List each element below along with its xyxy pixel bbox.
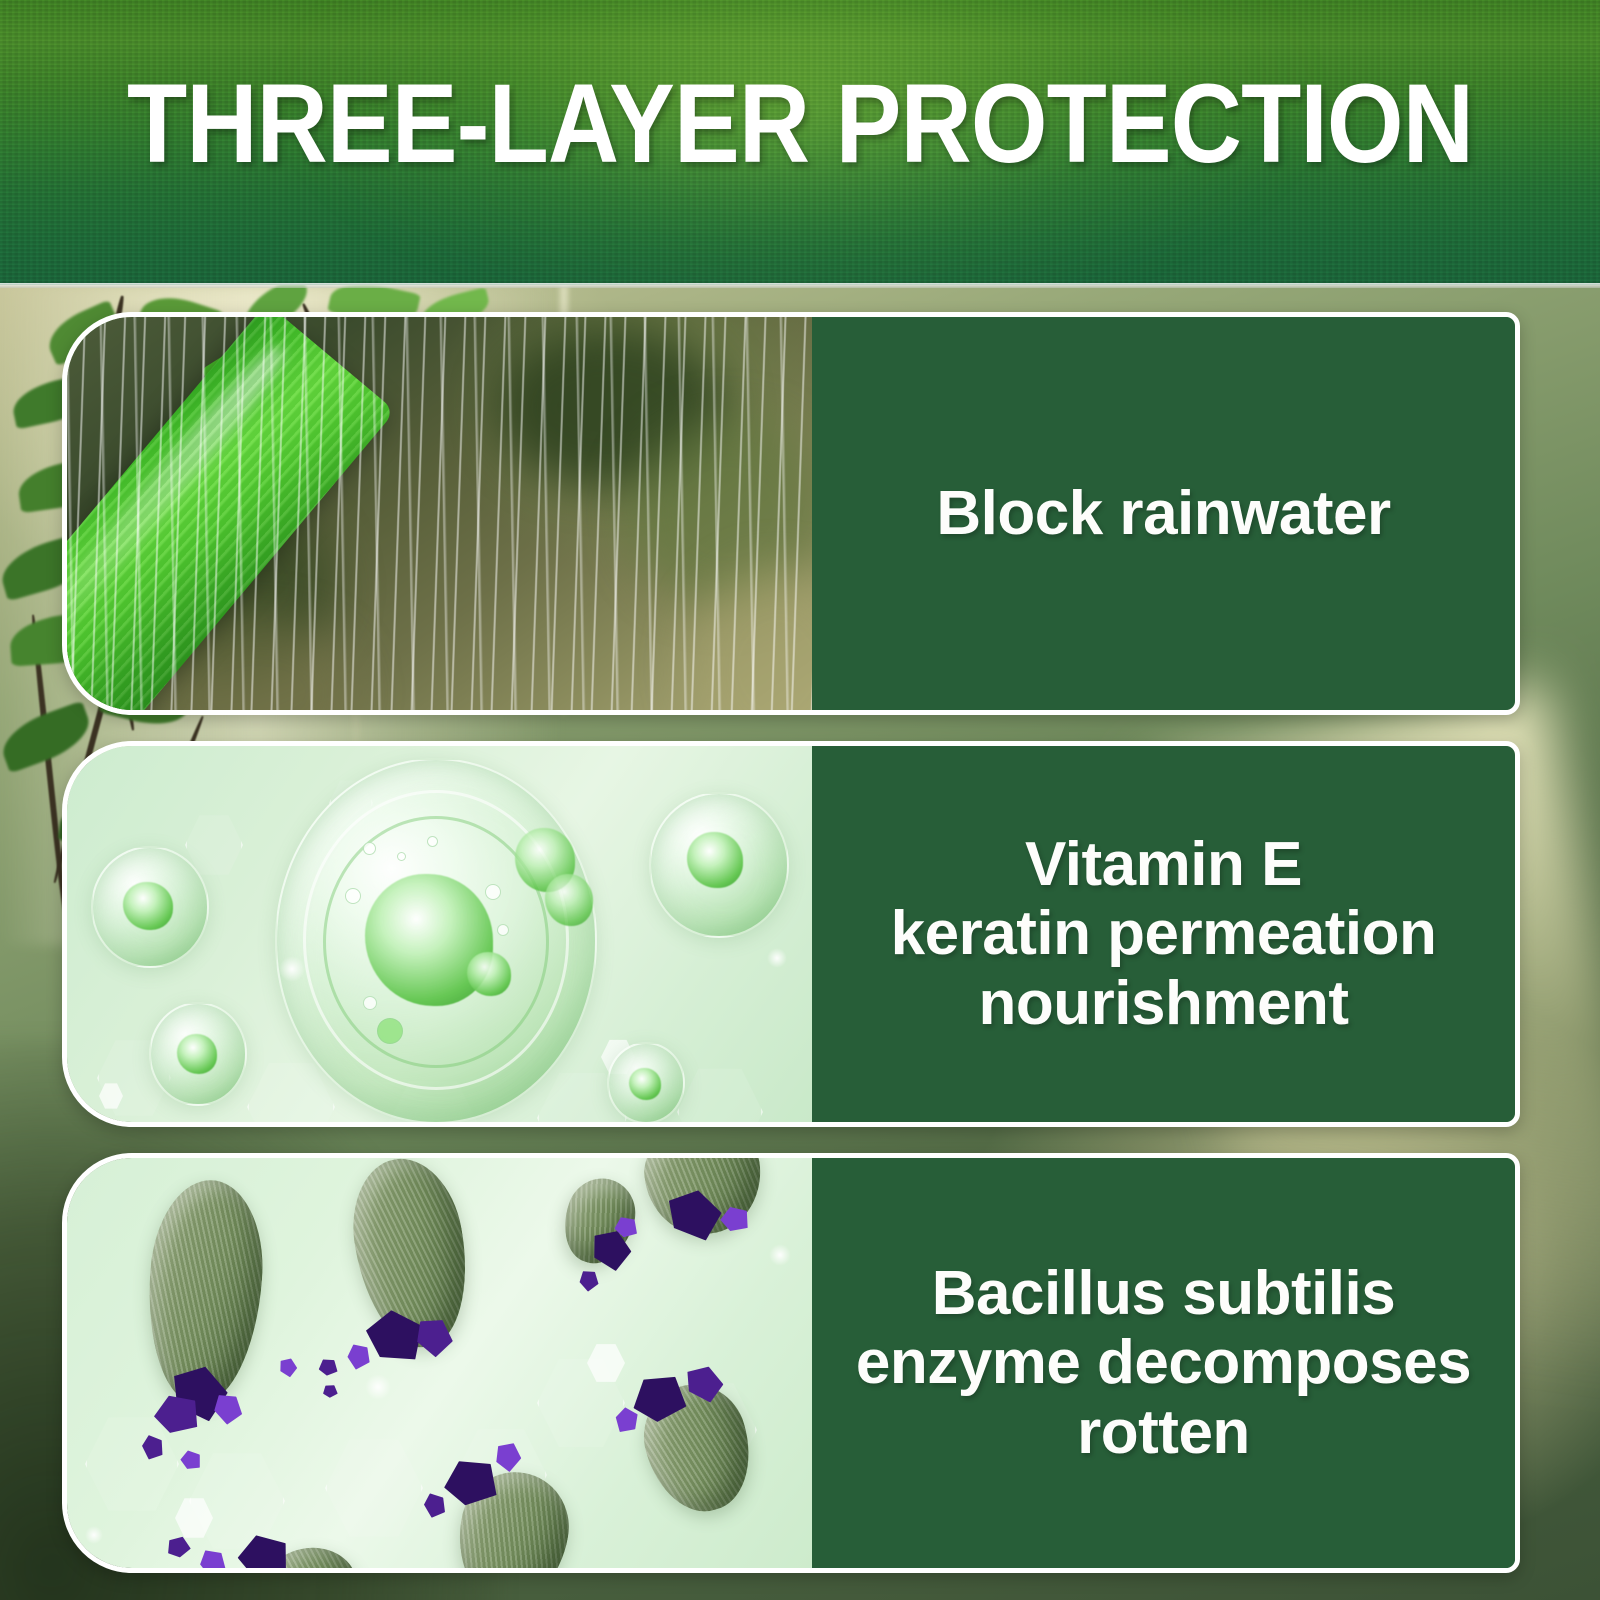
bacteria-shard bbox=[419, 1489, 451, 1522]
hexagon-outline bbox=[325, 1434, 423, 1542]
bubble-microdot bbox=[345, 888, 361, 904]
bubble-core bbox=[687, 832, 743, 888]
caption-panel: Bacillus subtilis enzyme decomposes rott… bbox=[812, 1158, 1515, 1568]
bubble-microdot bbox=[377, 1018, 403, 1044]
light-glint bbox=[279, 956, 305, 982]
bubble-side-cluster bbox=[545, 874, 593, 926]
light-glint bbox=[769, 1244, 791, 1266]
bubble-core-small bbox=[467, 952, 511, 996]
bubble-microdot bbox=[363, 996, 377, 1010]
bubble-core bbox=[123, 882, 173, 930]
feature-card-block-rainwater[interactable]: Block rainwater bbox=[62, 312, 1520, 715]
bacteria-decomposition-photo bbox=[67, 1158, 812, 1568]
caption-panel: Block rainwater bbox=[812, 317, 1515, 710]
feature-card-bacillus-subtilis[interactable]: Bacillus subtilis enzyme decomposes rott… bbox=[62, 1153, 1520, 1573]
product-infographic-poster: THREE-LAYER PROTECTION Block rainwater bbox=[0, 0, 1600, 1600]
bubble-microdot bbox=[363, 842, 376, 855]
card-caption: Bacillus subtilis enzyme decomposes rott… bbox=[856, 1259, 1471, 1467]
header-banner: THREE-LAYER PROTECTION bbox=[0, 0, 1600, 285]
bubble-microdot bbox=[485, 884, 501, 900]
bubble-microdot bbox=[497, 924, 509, 936]
bacteria-shard bbox=[178, 1447, 203, 1472]
light-glint bbox=[767, 948, 787, 968]
bacteria-shard bbox=[575, 1266, 603, 1294]
light-glint bbox=[85, 1526, 103, 1544]
bubble-core bbox=[629, 1068, 661, 1100]
page-title: THREE-LAYER PROTECTION bbox=[96, 68, 1504, 180]
bacteria-shard bbox=[320, 1381, 340, 1401]
header-divider bbox=[0, 283, 1600, 288]
bacteria-shard bbox=[316, 1355, 341, 1380]
light-glint bbox=[365, 1374, 391, 1400]
bacteria-shard bbox=[342, 1339, 376, 1373]
caption-panel: Vitamin E keratin permeation nourishment bbox=[812, 746, 1515, 1122]
bacteria-shard bbox=[276, 1355, 299, 1378]
bubble-microdot bbox=[427, 836, 438, 847]
bubble-core bbox=[177, 1034, 217, 1074]
serum-bubbles-photo bbox=[67, 746, 812, 1122]
hexagon-outline bbox=[677, 1064, 763, 1122]
card-caption: Vitamin E keratin permeation nourishment bbox=[891, 830, 1437, 1038]
card-caption: Block rainwater bbox=[936, 479, 1390, 548]
bubble-microdot bbox=[397, 852, 406, 861]
rain-streaks-secondary bbox=[67, 317, 812, 710]
feature-card-list: Block rainwater bbox=[62, 312, 1520, 1573]
feature-card-vitamin-e[interactable]: Vitamin E keratin permeation nourishment bbox=[62, 741, 1520, 1127]
rain-on-wrapped-branch-photo bbox=[67, 317, 812, 710]
